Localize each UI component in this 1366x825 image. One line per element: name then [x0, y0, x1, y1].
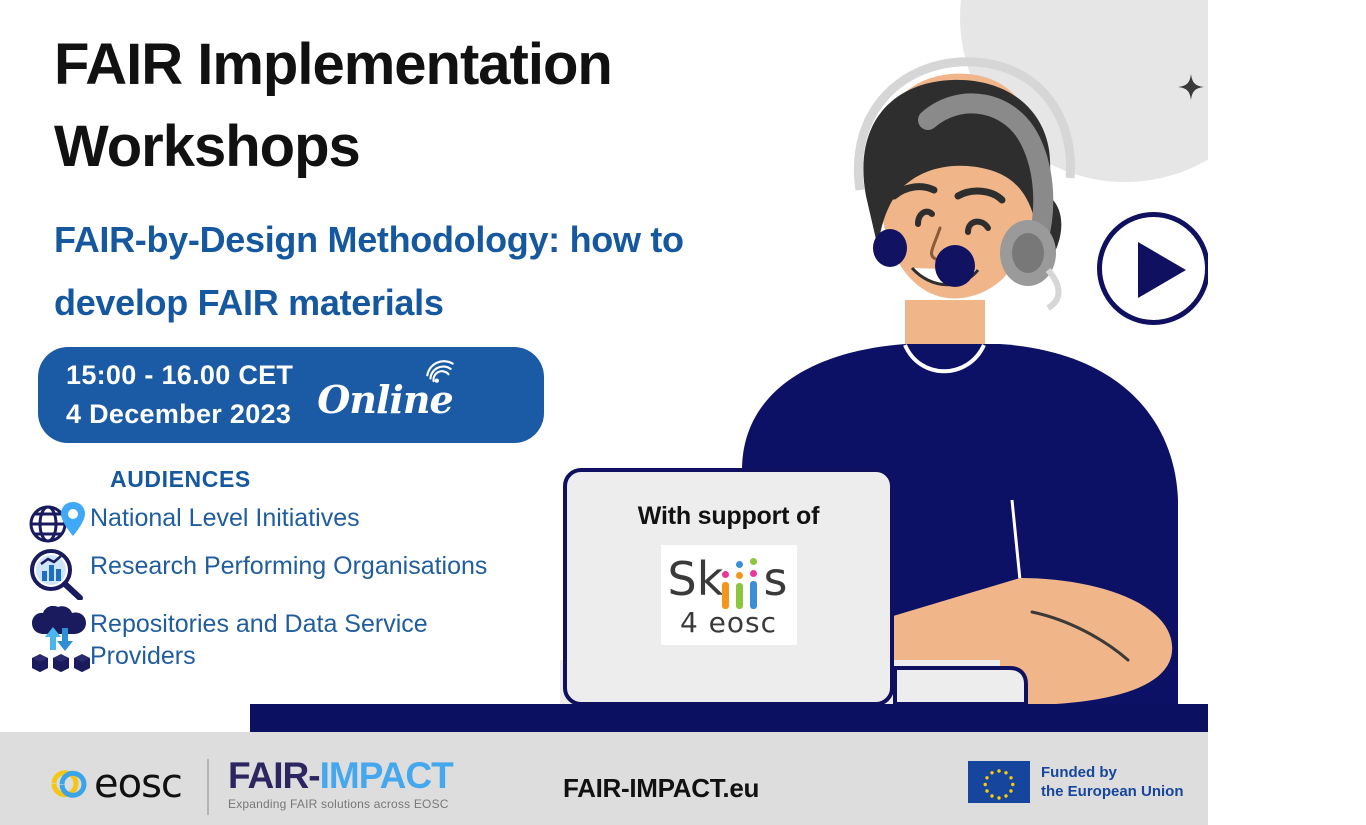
skills-wordmark: Sk s	[666, 552, 792, 608]
poster-canvas: FAIR Implementation Workshops FAIR-by-De…	[0, 0, 1208, 825]
eu-funding-line-1: Funded by	[1041, 763, 1184, 782]
skills-bar-orange	[722, 582, 729, 609]
cloud-servers-icon	[28, 606, 90, 677]
eu-funding-text: Funded by the European Union	[1041, 763, 1184, 801]
page-subtitle: FAIR-by-Design Methodology: how to devel…	[54, 208, 814, 334]
skills-dot-blue	[736, 561, 743, 568]
skills4eosc-logo: Sk s 4 eosc	[661, 545, 797, 645]
skills-subline: 4 eosc	[680, 606, 777, 639]
eosc-wordmark: eosc	[94, 764, 182, 804]
magnifier-chart-icon	[28, 548, 90, 605]
fair-impact-logo: FAIR-IMPACT Expanding FAIR solutions acr…	[228, 757, 453, 811]
audience-label: Repositories and Data Service Providers	[90, 606, 510, 672]
gray-circle-decoration	[960, 0, 1208, 182]
support-card: With support of Sk s 4 eosc	[563, 468, 894, 706]
schedule-date: 4 December 2023	[66, 395, 293, 434]
european-union-flag	[968, 761, 1030, 803]
fair-impact-wordmark: FAIR-IMPACT	[228, 757, 453, 796]
eosc-logo: eosc	[32, 764, 182, 804]
schedule-time: 15:00 - 16.00 CET	[66, 356, 293, 395]
skills-dot-green	[750, 558, 757, 565]
play-button-icon[interactable]	[1097, 212, 1208, 325]
skills-suffix: s	[764, 556, 788, 602]
schedule-text: 15:00 - 16.00 CET 4 December 2023	[66, 356, 293, 434]
footer-divider	[207, 759, 209, 815]
eosc-mark-icon	[32, 764, 88, 804]
audience-item-research-performing-organisations: Research Performing Organisations	[28, 548, 487, 605]
eu-funding-block: Funded by the European Union	[968, 761, 1184, 803]
skills-bar-blue	[750, 581, 757, 609]
schedule-badge: 15:00 - 16.00 CET 4 December 2023 Online	[38, 347, 544, 443]
online-text: Online	[317, 377, 452, 422]
website-url[interactable]: FAIR-IMPACT.eu	[563, 773, 759, 804]
skills-prefix: Sk	[668, 556, 724, 602]
support-label: With support of	[638, 502, 819, 531]
fair-impact-part-a: FAIR-	[228, 755, 320, 796]
play-triangle	[1138, 242, 1186, 298]
sparkle-star-icon	[1178, 74, 1204, 100]
audience-label: Research Performing Organisations	[90, 548, 487, 582]
eu-funding-line-2: the European Union	[1041, 782, 1184, 801]
desk-bar	[250, 704, 1208, 732]
audience-item-repositories-and-data-service-providers: Repositories and Data Service Providers	[28, 606, 510, 677]
page-title: FAIR Implementation Workshops	[54, 24, 814, 189]
audience-item-national-level-initiatives: National Level Initiatives	[28, 500, 360, 551]
skills-dot-orange	[736, 572, 743, 579]
fair-impact-tagline: Expanding FAIR solutions across EOSC	[228, 797, 453, 811]
wifi-icon	[423, 357, 457, 383]
skills-dot-pink	[750, 570, 757, 577]
skills-dot-magenta	[722, 571, 729, 578]
globe-pin-icon	[28, 500, 90, 551]
online-label: Online	[317, 377, 452, 422]
skills-bar-green	[736, 583, 743, 609]
audiences-heading: AUDIENCES	[110, 466, 251, 493]
audience-label: National Level Initiatives	[90, 500, 360, 534]
fair-impact-part-b: IMPACT	[320, 755, 453, 796]
